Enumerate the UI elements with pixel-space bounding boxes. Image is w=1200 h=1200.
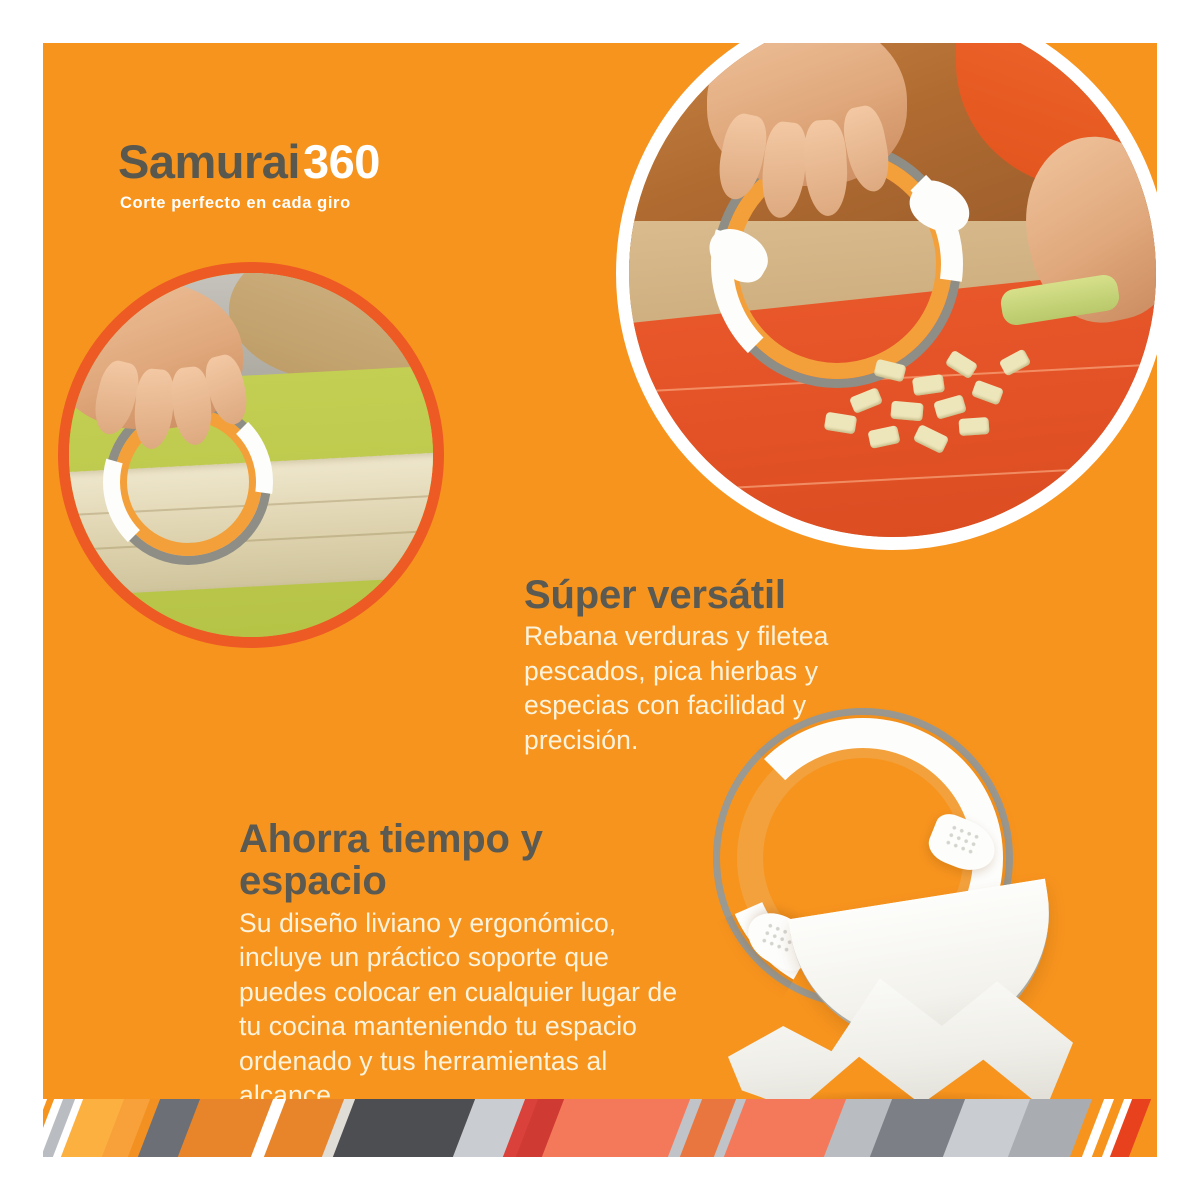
logo-name-primary: Samurai: [118, 135, 300, 188]
product-hero-image: [688, 698, 1108, 1123]
product-infographic: Samurai360 Corte perfecto en cada giro: [0, 0, 1200, 1200]
logo-wordmark: Samurai360: [118, 138, 380, 185]
brand-tagline: Corte perfecto en cada giro: [120, 194, 380, 213]
photo-tortilla-scene: [69, 273, 433, 637]
feature-ahorra: Ahorra tiempo y espacio Su diseño livian…: [239, 818, 679, 1112]
brand-logo: Samurai360 Corte perfecto en cada giro: [118, 138, 380, 213]
orange-panel: Samurai360 Corte perfecto en cada giro: [43, 43, 1157, 1157]
photo-chopping-scene: [629, 43, 1156, 537]
feature-ahorra-body: Su diseño liviano y ergonómico, incluye …: [239, 906, 679, 1113]
logo-name-secondary: 360: [303, 135, 380, 188]
feature-ahorra-heading: Ahorra tiempo y espacio: [239, 818, 679, 903]
photo-cutting-tortilla: [58, 262, 444, 648]
feature-versatil-heading: Súper versátil: [524, 574, 924, 616]
photo-chopping-vegetables: [616, 43, 1157, 550]
decorative-stripe-band: [43, 1099, 1157, 1157]
